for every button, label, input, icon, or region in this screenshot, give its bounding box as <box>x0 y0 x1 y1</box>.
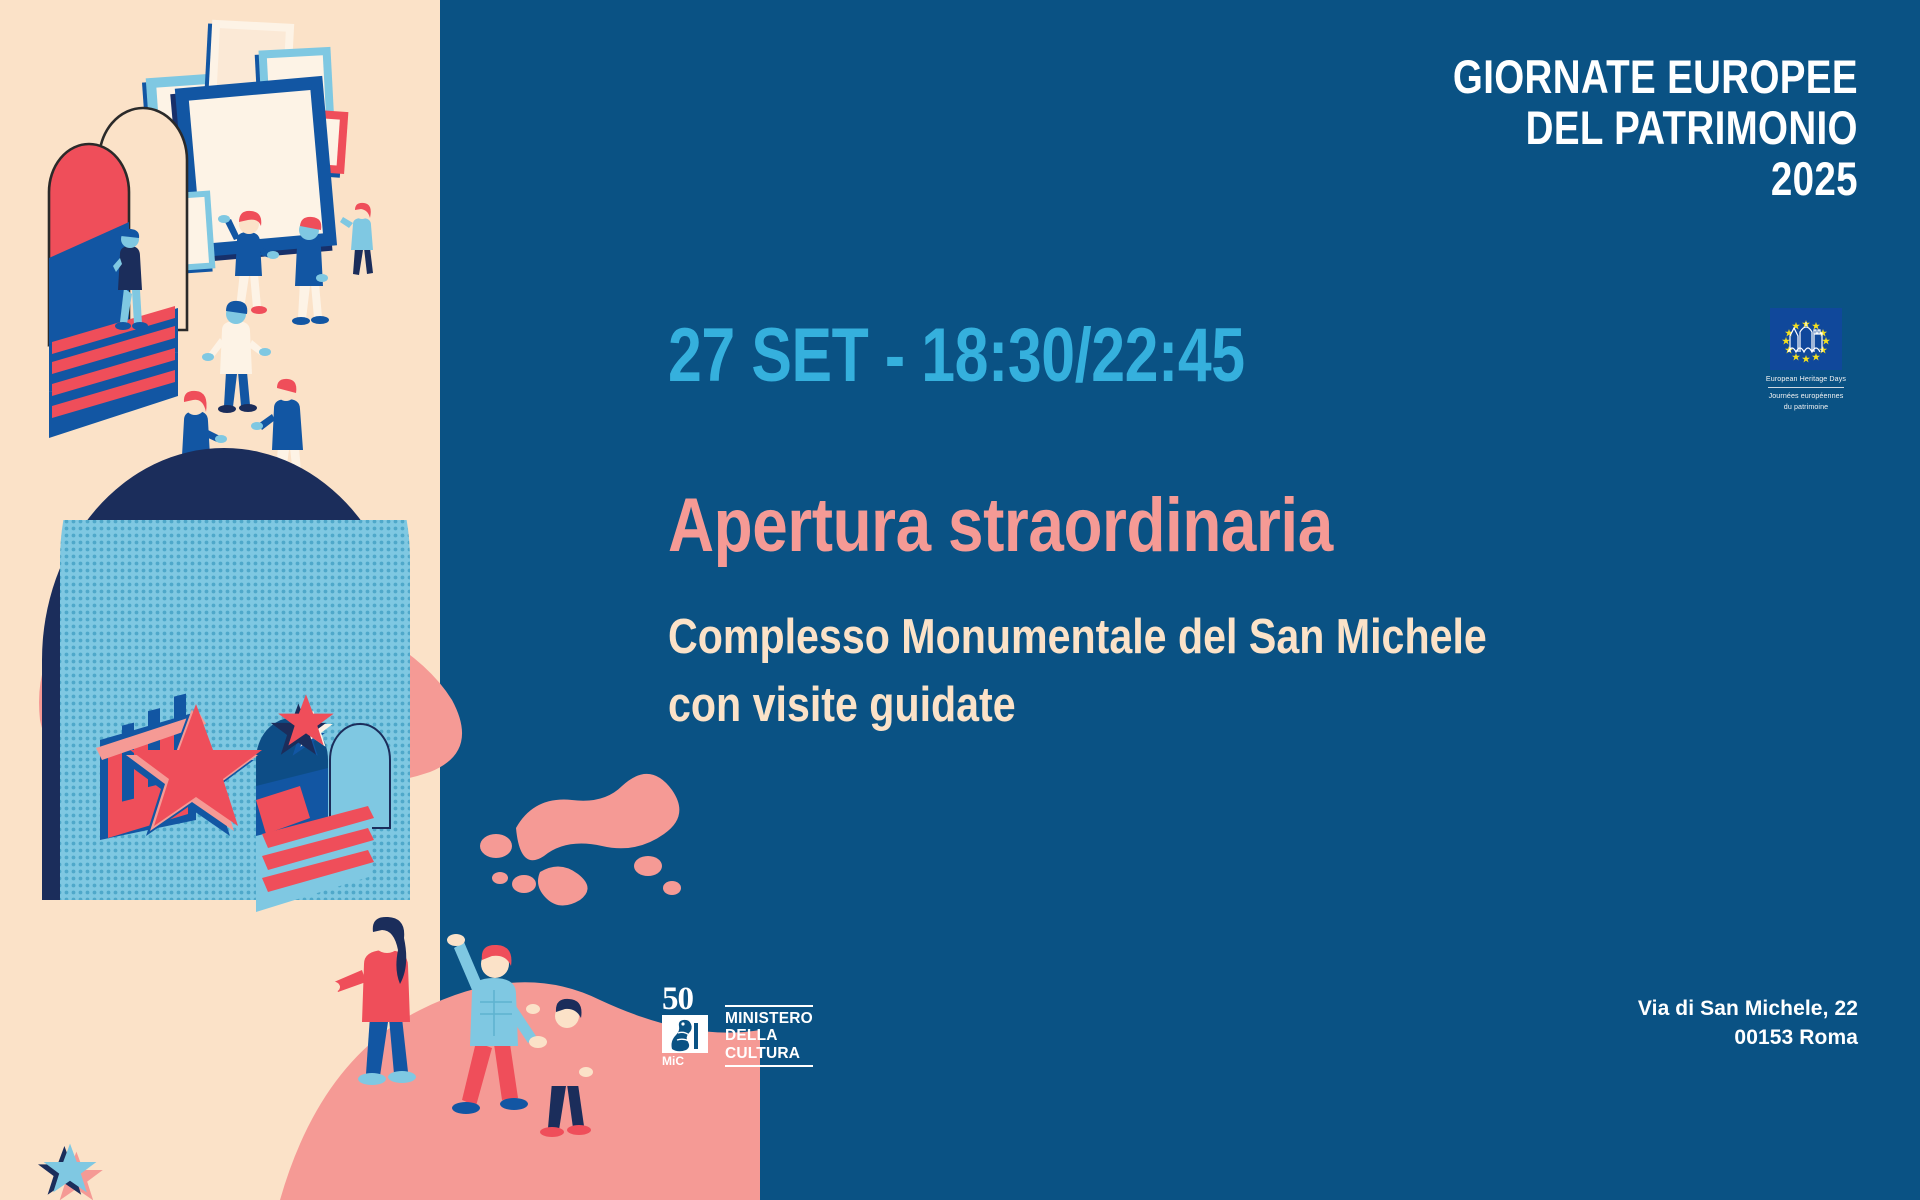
event-title: Apertura straordinaria <box>668 488 1333 564</box>
mic-mark: 50 MiC <box>662 985 720 1068</box>
address-street: Via di San Michele, 22 <box>1638 995 1858 1023</box>
mic-wordmark: MINISTERO DELLA CULTURA <box>725 1005 813 1068</box>
venue-address: Via di San Michele, 22 00153 Roma <box>1638 995 1858 1052</box>
ehd-flag-icon <box>1770 308 1842 370</box>
header-line-year: 2025 <box>1453 154 1858 205</box>
ministero-della-cultura-logo: 50 MiC <box>662 985 814 1068</box>
event-subtitle-line-2: con visite guidate <box>668 672 1487 740</box>
poster-canvas: GIORNATE EUROPEE DEL PATRIMONIO 2025 <box>0 0 1920 1200</box>
header-line-giornate-europee: GIORNATE EUROPEE <box>1453 52 1858 103</box>
event-subtitle-line-1: Complesso Monumentale del San Michele <box>668 604 1487 672</box>
ehd-caption-french-2: du patrimoine <box>1757 402 1856 413</box>
mic-name-ministero: MINISTERO <box>725 1010 813 1027</box>
ehd-caption-divider <box>1768 387 1844 388</box>
mic-name-cultura: CULTURA <box>725 1045 813 1062</box>
event-subtitle: Complesso Monumentale del San Michele co… <box>668 604 1487 739</box>
european-heritage-days-logo: European Heritage Days Journées européen… <box>1754 308 1858 413</box>
ehd-caption-french-1: Journées européennes <box>1757 391 1856 402</box>
header-line-del-patrimonio: DEL PATRIMONIO <box>1453 103 1858 154</box>
mic-rule-bottom <box>725 1065 813 1067</box>
background-cream-panel <box>0 0 440 1200</box>
mic-name-della: DELLA <box>725 1027 813 1044</box>
address-city: 00153 Roma <box>1638 1024 1858 1052</box>
mic-anniversary-50: 50 <box>662 985 720 1013</box>
ehd-caption-english: European Heritage Days <box>1757 374 1856 385</box>
mic-emblem-box <box>662 1015 708 1053</box>
mic-abbrev: MiC <box>662 1054 720 1068</box>
mic-figure-icon <box>662 1015 708 1053</box>
ehd-caption: European Heritage Days Journées européen… <box>1757 374 1856 413</box>
mic-rule-top <box>725 1005 813 1007</box>
event-header: GIORNATE EUROPEE DEL PATRIMONIO 2025 <box>1364 52 1858 204</box>
event-date-time: 27 SET - 18:30/22:45 <box>668 318 1245 394</box>
